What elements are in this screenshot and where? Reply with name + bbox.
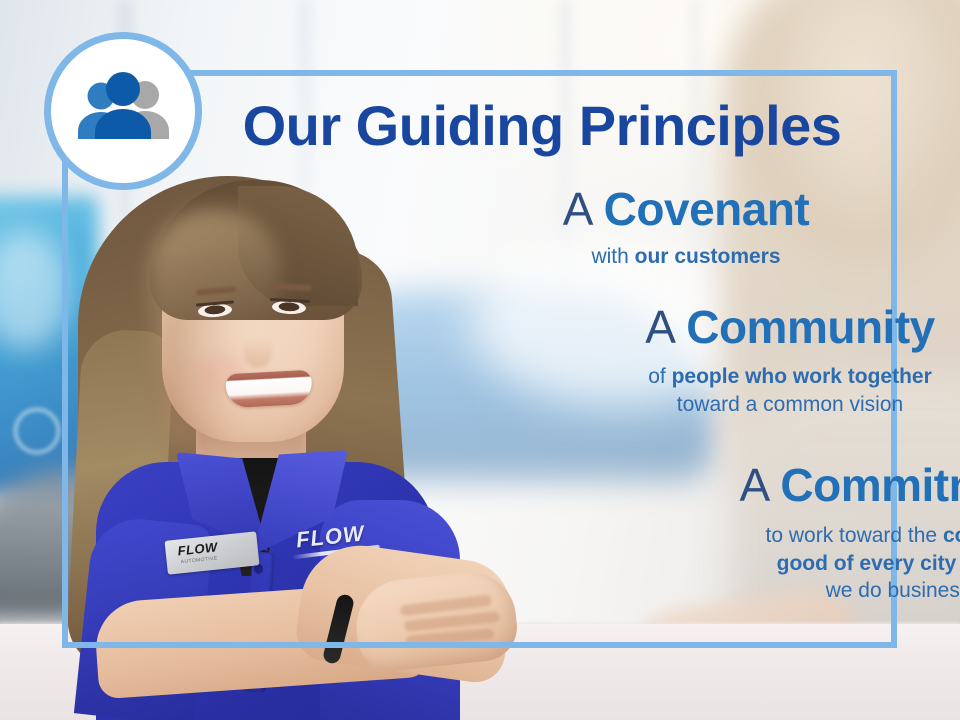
principle-article: A xyxy=(739,459,767,511)
guiding-principles-poster: FLOW AUTOMOTIVE FLOW xyxy=(0,0,960,720)
principle-covenant: A Covenant with our customers xyxy=(0,186,960,271)
principle-article: A xyxy=(563,183,591,235)
subtext-emphasis: people who work together xyxy=(672,365,932,388)
principle-commitment-subtext: to work toward the common good of every … xyxy=(418,522,960,605)
principle-commitment-headline: A Commitment xyxy=(418,462,960,508)
subtext-plain: of xyxy=(648,365,671,388)
subtext-plain: where xyxy=(956,552,960,575)
principle-covenant-subtext: with our customers xyxy=(206,243,960,271)
people-group-icon-badge xyxy=(44,32,202,190)
subtext-plain: with xyxy=(591,245,634,268)
principle-keyword: Covenant xyxy=(604,183,810,235)
principle-keyword: Commitment xyxy=(780,459,960,511)
subtext-plain: to work toward the xyxy=(766,524,943,547)
principle-commitment: A Commitment to work toward the common g… xyxy=(0,462,960,605)
page-title: Our Guiding Principles xyxy=(212,97,872,156)
subtext-emphasis: common xyxy=(943,524,960,547)
principle-community-headline: A Community xyxy=(310,304,960,350)
principle-community-subtext: of people who work together toward a com… xyxy=(310,363,960,418)
people-group-icon xyxy=(71,71,175,151)
subtext-emphasis: our customers xyxy=(635,245,781,268)
subtext-plain: we do business xyxy=(826,579,960,602)
principle-keyword: Community xyxy=(686,301,935,353)
principle-community: A Community of people who work together … xyxy=(0,304,960,418)
principle-article: A xyxy=(645,301,673,353)
principle-covenant-headline: A Covenant xyxy=(206,186,960,232)
subtext-emphasis: good of every city xyxy=(777,552,957,575)
subtext-plain: toward a common vision xyxy=(677,393,903,416)
